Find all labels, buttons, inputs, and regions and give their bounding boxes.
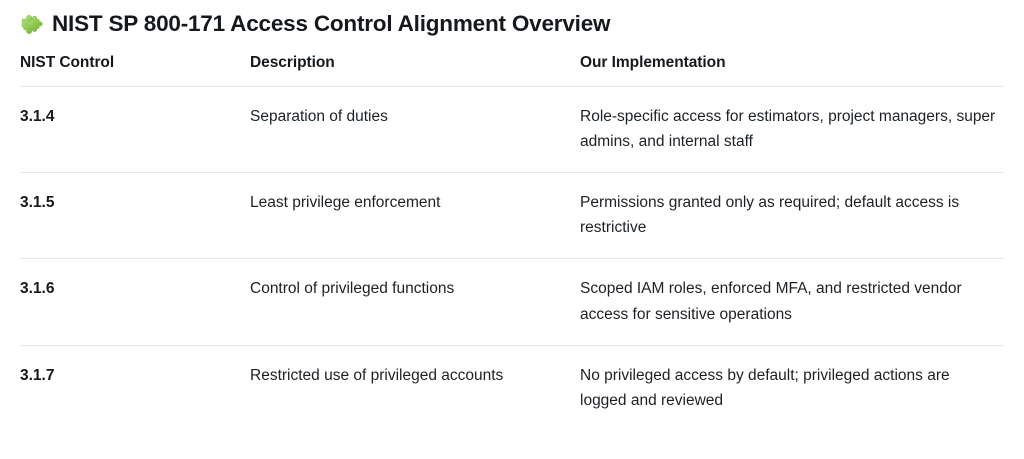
cell-implementation: Scoped IAM roles, enforced MFA, and rest…	[580, 259, 1004, 345]
document-page: NIST SP 800-171 Access Control Alignment…	[0, 0, 1024, 459]
table-header: NIST Control Description Our Implementat…	[20, 54, 1004, 87]
cell-description: Restricted use of privileged accounts	[250, 345, 580, 431]
column-header-nist-control: NIST Control	[20, 54, 250, 87]
cell-implementation: No privileged access by default; privile…	[580, 345, 1004, 431]
table-row: 3.1.5 Least privilege enforcement Permis…	[20, 173, 1004, 259]
table-header-row: NIST Control Description Our Implementat…	[20, 54, 1004, 87]
cell-implementation: Permissions granted only as required; de…	[580, 173, 1004, 259]
table-row: 3.1.4 Separation of duties Role-specific…	[20, 87, 1004, 173]
table-row: 3.1.7 Restricted use of privileged accou…	[20, 345, 1004, 431]
column-header-our-implementation: Our Implementation	[580, 54, 1004, 87]
cell-nist-control: 3.1.7	[20, 345, 250, 431]
cell-implementation: Role-specific access for estimators, pro…	[580, 87, 1004, 173]
column-header-description: Description	[250, 54, 580, 87]
nist-alignment-table: NIST Control Description Our Implementat…	[20, 54, 1004, 431]
cell-description: Separation of duties	[250, 87, 580, 173]
puzzle-piece-icon	[20, 13, 44, 37]
page-title: NIST SP 800-171 Access Control Alignment…	[20, 0, 1004, 44]
cell-description: Control of privileged functions	[250, 259, 580, 345]
cell-nist-control: 3.1.6	[20, 259, 250, 345]
cell-description: Least privilege enforcement	[250, 173, 580, 259]
cell-nist-control: 3.1.5	[20, 173, 250, 259]
cell-nist-control: 3.1.4	[20, 87, 250, 173]
table-row: 3.1.6 Control of privileged functions Sc…	[20, 259, 1004, 345]
table-body: 3.1.4 Separation of duties Role-specific…	[20, 87, 1004, 431]
page-title-text: NIST SP 800-171 Access Control Alignment…	[52, 11, 610, 37]
